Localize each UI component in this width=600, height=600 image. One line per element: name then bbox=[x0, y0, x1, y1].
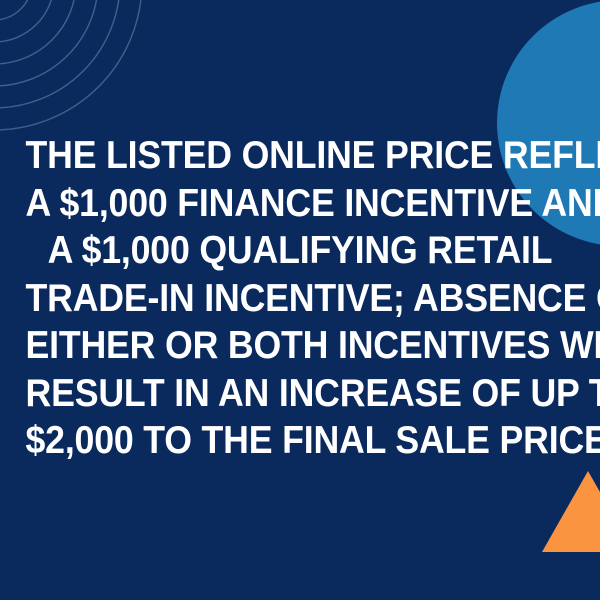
disclaimer-line-2: A $1,000 FINANCE INCENTIVE AND bbox=[26, 180, 575, 228]
disclaimer-line-5: EITHER OR BOTH INCENTIVES WILL bbox=[26, 322, 575, 370]
disclaimer-text-block: THE LISTED ONLINE PRICE REFLECTS A $1,00… bbox=[26, 132, 575, 465]
promotional-disclaimer-banner: THE LISTED ONLINE PRICE REFLECTS A $1,00… bbox=[0, 0, 600, 600]
disclaimer-line-3: A $1,000 QUALIFYING RETAIL bbox=[26, 227, 575, 275]
disclaimer-line-6: RESULT IN AN INCREASE OF UP TO bbox=[26, 370, 575, 418]
disclaimer-line-1: THE LISTED ONLINE PRICE REFLECTS bbox=[26, 132, 575, 180]
disclaimer-line-7: $2,000 TO THE FINAL SALE PRICE. bbox=[26, 417, 575, 465]
disclaimer-line-4: TRADE-IN INCENTIVE; ABSENCE OF bbox=[26, 275, 575, 323]
